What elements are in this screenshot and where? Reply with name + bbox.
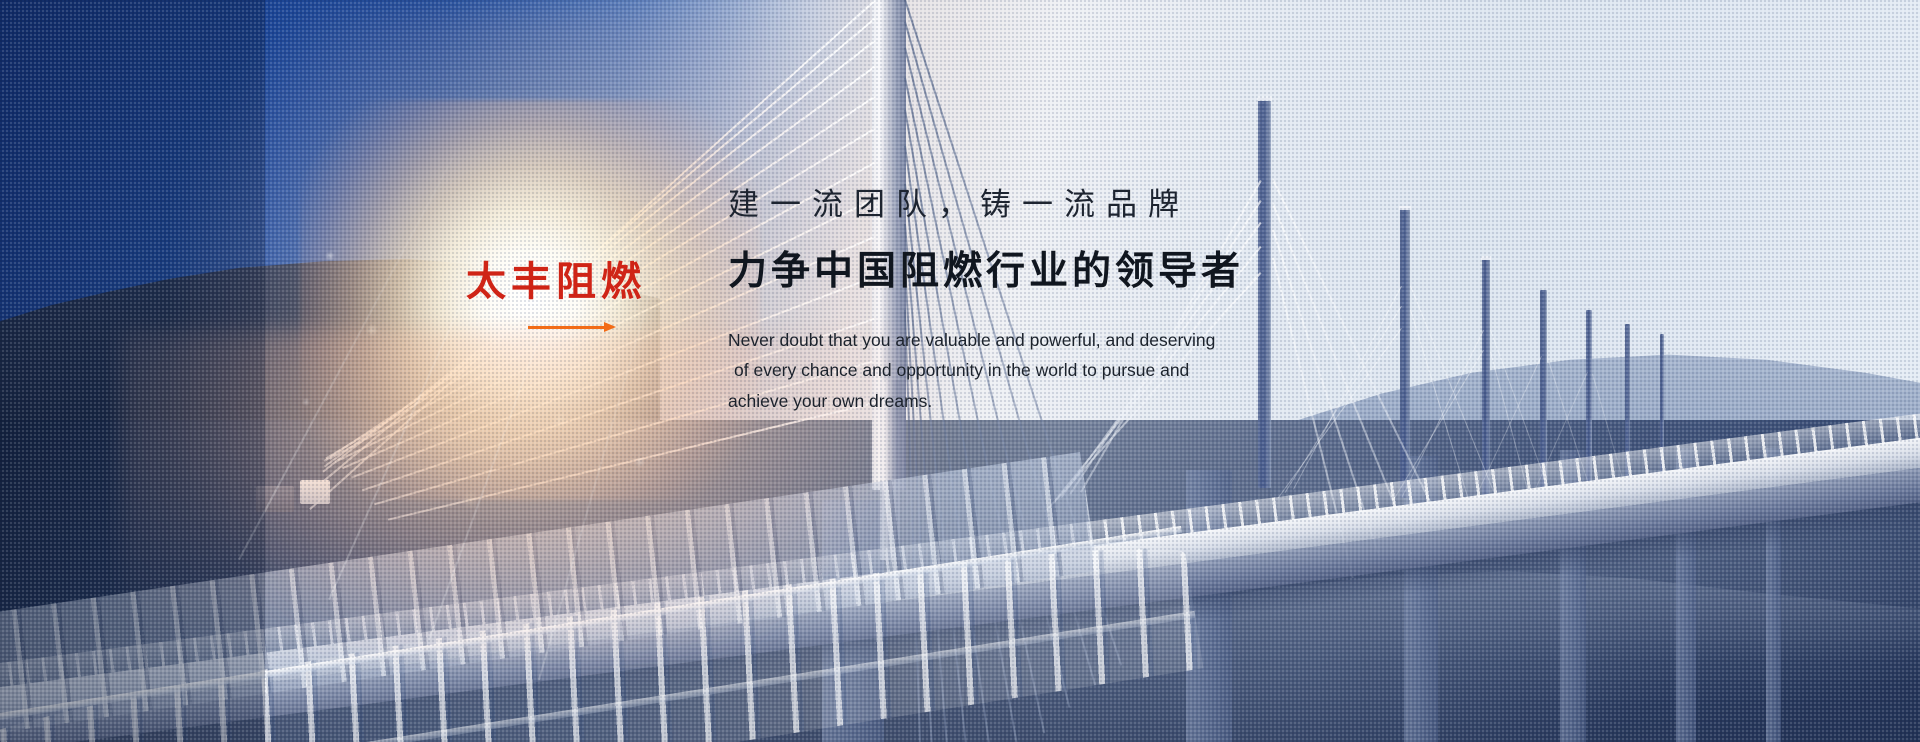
headline-block: 建一流团队，铸一流品牌 力争中国阻燃行业的领导者 Never doubt tha…: [728, 186, 1368, 417]
headline-secondary: 力争中国阻燃行业的领导者: [728, 247, 1368, 297]
subtext-line-1: Never doubt that you are valuable and po…: [728, 325, 1300, 356]
headline-primary: 建一流团队，铸一流品牌: [728, 186, 1368, 225]
subtext-line-2: of every chance and opportunity in the w…: [728, 355, 1300, 386]
arrow-right-icon: [528, 322, 616, 334]
subtext-line-3: achieve your own dreams.: [728, 386, 1300, 417]
arrow-head: [604, 322, 616, 332]
arrow-shaft: [528, 326, 608, 329]
hero-banner: 太丰阻燃 建一流团队，铸一流品牌 力争中国阻燃行业的领导者 Never doub…: [0, 0, 1920, 742]
banner-content: 太丰阻燃 建一流团队，铸一流品牌 力争中国阻燃行业的领导者 Never doub…: [0, 0, 1920, 742]
subtext-paragraph: Never doubt that you are valuable and po…: [728, 325, 1300, 417]
brand-name: 太丰阻燃: [466, 262, 686, 302]
brand-logo[interactable]: 太丰阻燃: [466, 262, 686, 334]
